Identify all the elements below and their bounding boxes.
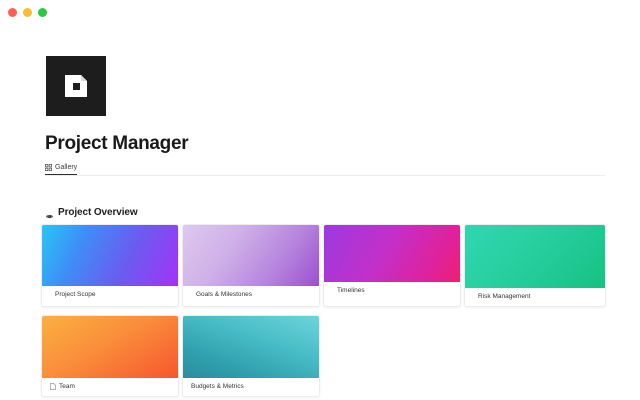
page-content: Project Manager Gallery: [0, 28, 640, 400]
maximize-window-button[interactable]: [38, 8, 47, 17]
card-title: Team: [59, 383, 75, 390]
card-title: Goals & Milestones: [196, 291, 252, 298]
view-tab-gallery[interactable]: Gallery: [45, 164, 77, 175]
page-icon[interactable]: [46, 56, 106, 116]
view-tab-label: Gallery: [55, 164, 77, 171]
gallery-row-2: Team Budgets & Metrics: [41, 315, 611, 397]
gallery-card-project-scope[interactable]: Project Scope: [41, 224, 179, 307]
eye-icon: [45, 208, 54, 217]
card-thumbnail: [183, 316, 319, 378]
gallery-card-budgets-metrics[interactable]: Budgets & Metrics: [182, 315, 320, 397]
card-title: Budgets & Metrics: [191, 383, 244, 390]
view-tab-bar: Gallery: [45, 159, 605, 176]
gallery-card-team[interactable]: Team: [41, 315, 179, 397]
window-controls: [8, 8, 47, 17]
gallery-card-timelines[interactable]: Timelines: [323, 224, 461, 307]
card-title: Risk Management: [478, 293, 530, 300]
card-thumbnail: [465, 225, 605, 288]
card-caption: Timelines: [324, 282, 460, 300]
gallery-grid: Project Scope Goals & Milestones Timelin…: [41, 224, 611, 397]
file-icon: [50, 383, 56, 390]
minimize-window-button[interactable]: [23, 8, 32, 17]
card-caption: Project Scope: [42, 286, 178, 304]
card-thumbnail: [324, 225, 460, 282]
card-title: Timelines: [337, 287, 365, 294]
page-title: Project Manager: [45, 133, 188, 155]
card-title: Project Scope: [55, 291, 95, 298]
card-thumbnail: [42, 225, 178, 286]
card-caption: Budgets & Metrics: [183, 378, 319, 396]
close-window-button[interactable]: [8, 8, 17, 17]
section-heading: Project Overview: [45, 207, 138, 218]
gallery-card-risk-management[interactable]: Risk Management: [464, 224, 606, 307]
card-thumbnail: [42, 316, 178, 378]
gallery-row-1: Project Scope Goals & Milestones Timelin…: [41, 224, 611, 307]
card-caption: Goals & Milestones: [183, 286, 319, 304]
card-thumbnail: [183, 225, 319, 286]
window-titlebar: [0, 0, 640, 28]
card-caption: Team: [42, 378, 178, 396]
card-caption: Risk Management: [465, 288, 605, 306]
gallery-card-goals-milestones[interactable]: Goals & Milestones: [182, 224, 320, 307]
section-title: Project Overview: [58, 207, 138, 218]
grid-four-squares-icon: [45, 164, 52, 171]
app-window: Project Manager Gallery: [0, 0, 640, 400]
